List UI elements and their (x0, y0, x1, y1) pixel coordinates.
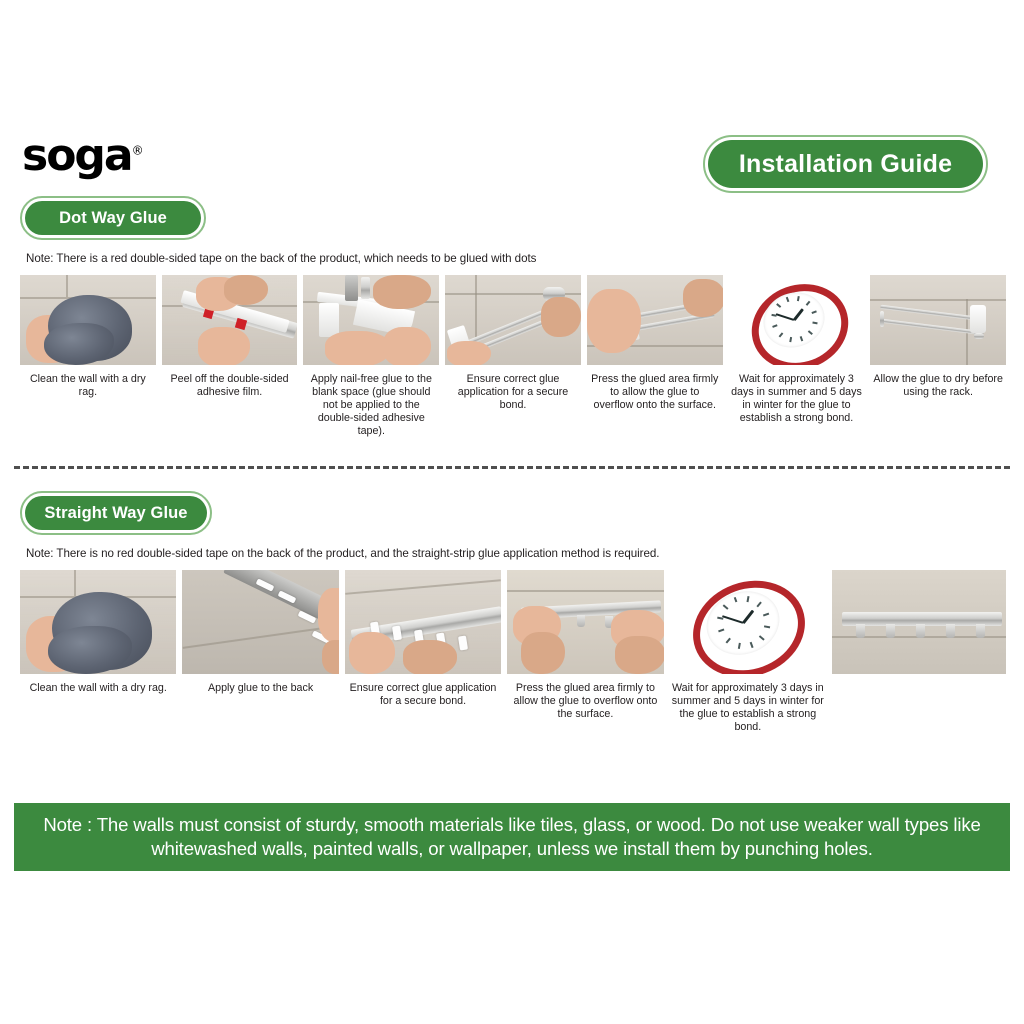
registered-trademark-icon: ® (132, 143, 144, 157)
section-note-straight-way-glue: Note: There is no red double-sided tape … (26, 547, 1024, 560)
step-item: Allow the glue to dry before using the r… (870, 275, 1006, 399)
photo-clean-wall-with-rag (20, 275, 156, 365)
section-badge-dot-way-glue: Dot Way Glue (20, 196, 206, 240)
step-caption: Clean the wall with a dry rag. (20, 373, 156, 399)
step-item: Press the glued area firmly to allow the… (587, 275, 723, 412)
photo-press-glued-area (587, 275, 723, 365)
step-item: Wait for approximately 3 days in summer … (670, 570, 826, 734)
brand-logo-text: soga (22, 130, 132, 181)
step-item: Apply nail-free glue to the blank space … (303, 275, 439, 438)
installation-guide-page: soga® Installation Guide Dot Way Glue No… (0, 0, 1024, 1024)
illustration-clock-waiting-time (670, 570, 826, 674)
section-badge-ring: Dot Way Glue (20, 196, 206, 240)
step-item: Press the glued area firmly to allow the… (507, 570, 663, 721)
illustration-clock-waiting-time (729, 275, 865, 365)
step-caption: Ensure correct glue application for a se… (345, 682, 501, 708)
section-badge-label: Dot Way Glue (25, 201, 201, 235)
footer-warning-text: Note : The walls must consist of sturdy,… (30, 813, 994, 861)
step-caption: Peel off the double-sided adhesive film. (162, 373, 298, 399)
step-caption: Wait for approximately 3 days in summer … (729, 373, 865, 425)
section-note-dot-way-glue: Note: There is a red double-sided tape o… (26, 252, 1024, 265)
photo-clean-wall-with-rag (20, 570, 176, 674)
photo-press-hook-rail (507, 570, 663, 674)
step-item: Ensure correct glue application for a se… (445, 275, 581, 412)
step-caption: Apply glue to the back (182, 682, 338, 695)
steps-row-dot-way-glue: Clean the wall with a dry rag. (0, 275, 1024, 438)
section-badge-straight-way-glue: Straight Way Glue (20, 491, 212, 535)
section-divider (14, 466, 1010, 469)
photo-correct-glue-application (445, 275, 581, 365)
guide-badge-label: Installation Guide (708, 140, 983, 188)
step-item: Wait for approximately 3 days in summer … (729, 275, 865, 425)
step-item: Apply glue to the back (182, 570, 338, 695)
photo-finished-hook-rail (832, 570, 1006, 674)
step-caption: Ensure correct glue application for a se… (445, 373, 581, 412)
footer-warning-note: Note : The walls must consist of sturdy,… (14, 803, 1010, 871)
steps-row-straight-way-glue: Clean the wall with a dry rag. (0, 570, 1024, 734)
step-item: Ensure correct glue application for a se… (345, 570, 501, 708)
step-item: Clean the wall with a dry rag. (20, 275, 156, 399)
step-caption: Wait for approximately 3 days in summer … (670, 682, 826, 734)
photo-apply-nail-free-glue (303, 275, 439, 365)
guide-badge-ring: Installation Guide (703, 135, 988, 193)
photo-peel-adhesive-film (162, 275, 298, 365)
section-straight-way-glue: Straight Way Glue Note: There is no red … (0, 491, 1024, 734)
photo-correct-glue-application-strip (345, 570, 501, 674)
photo-apply-glue-to-back (182, 570, 338, 674)
photo-finished-towel-rack (870, 275, 1006, 365)
step-caption: Apply nail-free glue to the blank space … (303, 373, 439, 438)
section-badge-label: Straight Way Glue (25, 496, 207, 530)
step-caption: Press the glued area firmly to allow the… (587, 373, 723, 412)
brand-logo: soga® (22, 134, 144, 178)
step-item: Clean the wall with a dry rag. (20, 570, 176, 695)
step-item (832, 570, 1006, 682)
step-caption: Allow the glue to dry before using the r… (870, 373, 1006, 399)
step-item: Peel off the double-sided adhesive film. (162, 275, 298, 399)
installation-guide-badge: Installation Guide (703, 135, 988, 193)
step-caption: Press the glued area firmly to allow the… (507, 682, 663, 721)
section-badge-ring: Straight Way Glue (20, 491, 212, 535)
section-dot-way-glue: Dot Way Glue Note: There is a red double… (0, 196, 1024, 438)
step-caption: Clean the wall with a dry rag. (20, 682, 176, 695)
